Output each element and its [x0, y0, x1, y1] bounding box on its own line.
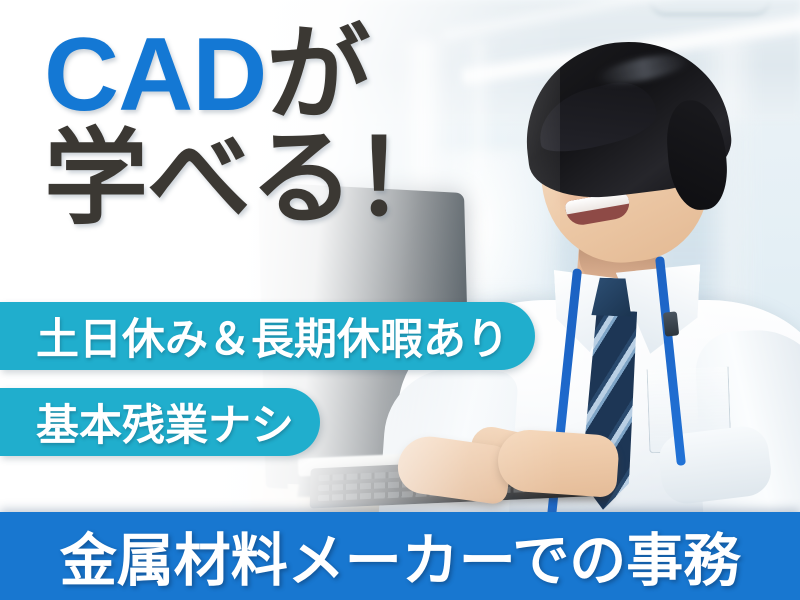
headline: CADが 学べる！ [44, 26, 464, 230]
headline-line-1: CADが [44, 26, 464, 126]
lanyard-clip [663, 311, 679, 336]
headline-line-2: 学べる！ [44, 130, 464, 230]
job-title-label: 金属材料メーカーでの事務 [60, 515, 741, 597]
headline-line-1-suffix: が [266, 17, 369, 133]
benefit-badge-label: 土日休み＆長期休暇あり [36, 305, 509, 367]
benefit-badge-label: 基本残業ナシ [36, 391, 294, 453]
benefit-badge-holidays: 土日休み＆長期休暇あり [0, 302, 535, 370]
person-hand-right [496, 428, 620, 498]
bottom-job-title-bar: 金属材料メーカーでの事務 [0, 512, 800, 600]
benefit-badge-overtime: 基本残業ナシ [0, 388, 320, 456]
ceiling-pipe [650, 0, 770, 16]
headline-keyword: CAD [44, 17, 266, 133]
job-ad-banner: CADが 学べる！ 土日休み＆長期休暇あり 基本残業ナシ 金属材料メーカーでの事… [0, 0, 800, 600]
